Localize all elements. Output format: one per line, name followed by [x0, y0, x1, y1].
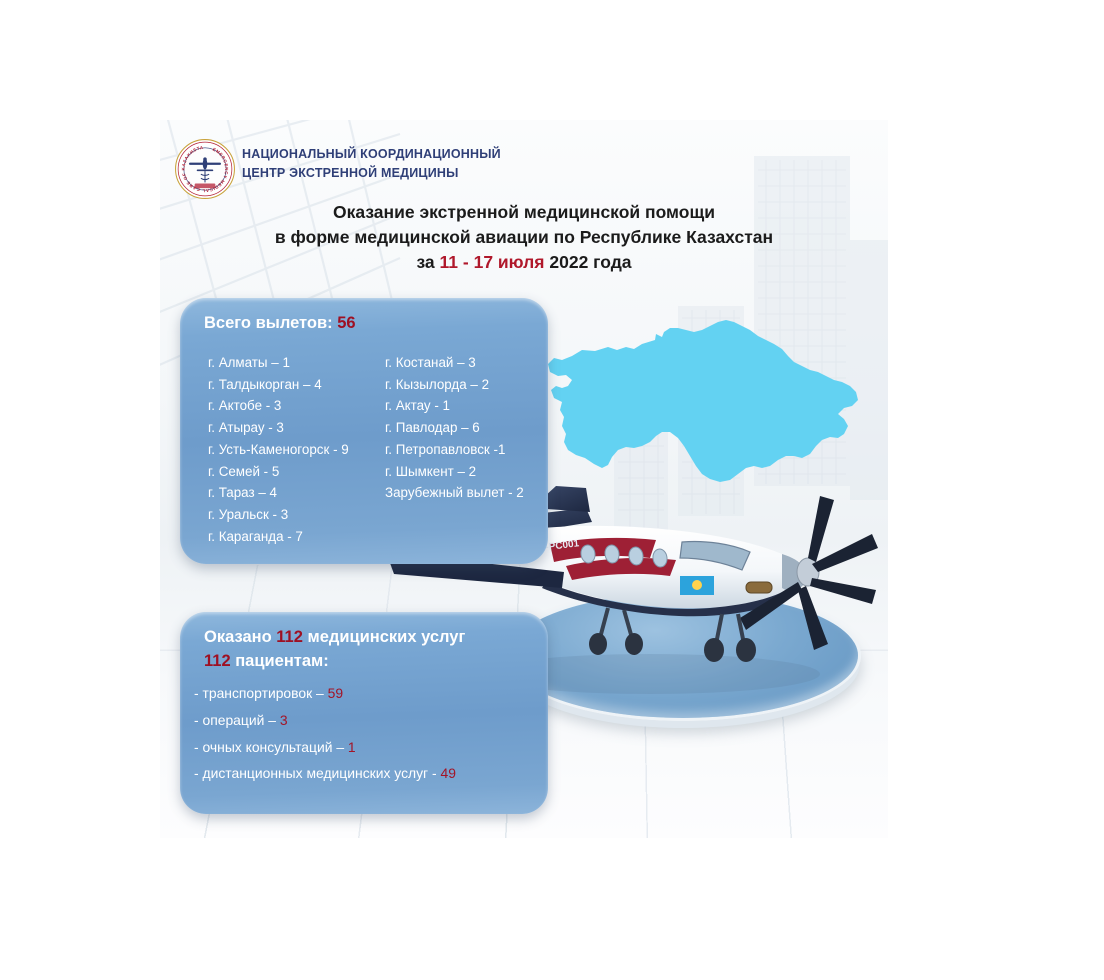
- title-line-2: в форме медицинской авиации по Республик…: [160, 225, 888, 250]
- service-value: 3: [280, 712, 288, 728]
- list-item: г. Семей - 5: [208, 461, 379, 483]
- page-title: Оказание экстренной медицинской помощи в…: [160, 200, 888, 275]
- list-item: г. Петропавловск -1: [385, 439, 538, 461]
- service-label: - очных консультаций –: [194, 739, 348, 755]
- list-item: - очных консультаций – 1: [194, 734, 540, 761]
- organization-logo-icon: EMERGENCY MEDICAL CARE OF KAZAKHSTAN: [174, 138, 236, 200]
- service-value: 1: [348, 739, 356, 755]
- infographic-panel: EMERGENCY MEDICAL CARE OF KAZAKHSTAN НАЦ…: [160, 120, 888, 838]
- list-item: - дистанционных медицинских услуг - 49: [194, 760, 540, 787]
- org-name-line2: ЦЕНТР ЭКСТРЕННОЙ МЕДИЦИНЫ: [242, 164, 501, 183]
- total-flights-label: Всего вылетов:: [204, 314, 333, 332]
- poster-stage: EMERGENCY MEDICAL CARE OF KAZAKHSTAN НАЦ…: [0, 0, 1104, 980]
- list-item: г. Актобе - 3: [208, 395, 379, 417]
- total-flights-value: 56: [337, 314, 355, 332]
- list-item: г. Караганда - 7: [208, 526, 379, 548]
- list-item: г. Кызылорда – 2: [385, 374, 538, 396]
- service-value: 49: [440, 765, 455, 781]
- list-item: г. Талдыкорган – 4: [208, 374, 379, 396]
- list-item: г. Атырау - 3: [208, 417, 379, 439]
- patients-count: 112: [204, 652, 231, 670]
- services-breakdown-list: - транспортировок – 59 - операций – 3 - …: [194, 680, 540, 787]
- services-count: 112: [276, 628, 303, 646]
- list-item: - операций – 3: [194, 707, 540, 734]
- list-item: г. Тараз – 4: [208, 482, 379, 504]
- flights-city-column-left: г. Алматы – 1 г. Талдыкорган – 4 г. Акто…: [208, 352, 379, 547]
- organization-name: НАЦИОНАЛЬНЫЙ КООРДИНАЦИОННЫЙ ЦЕНТР ЭКСТР…: [242, 145, 501, 184]
- list-item: г. Уральск - 3: [208, 504, 379, 526]
- title-period-suffix: 2022 года: [545, 252, 632, 272]
- services-heading-word3: пациентам:: [235, 652, 329, 670]
- title-line-3: за 11 - 17 июля 2022 года: [160, 250, 888, 275]
- title-period-dates: 11 - 17 июля: [440, 252, 545, 272]
- list-item: Зарубежный вылет - 2: [385, 482, 538, 504]
- services-heading: Оказано 112 медицинских услуг 112 пациен…: [204, 626, 532, 674]
- title-line-1: Оказание экстренной медицинской помощи: [160, 200, 888, 225]
- total-flights-heading: Всего вылетов: 56: [204, 312, 532, 336]
- org-name-line1: НАЦИОНАЛЬНЫЙ КООРДИНАЦИОННЫЙ: [242, 145, 501, 164]
- services-heading-word2: медицинских услуг: [308, 628, 466, 646]
- flights-city-column-right: г. Костанай – 3 г. Кызылорда – 2 г. Акта…: [385, 352, 538, 547]
- service-label: - операций –: [194, 712, 280, 728]
- list-item: г. Костанай – 3: [385, 352, 538, 374]
- list-item: г. Усть-Каменогорск - 9: [208, 439, 379, 461]
- services-heading-word1: Оказано: [204, 628, 272, 646]
- title-period-prefix: за: [416, 252, 439, 272]
- flights-city-columns: г. Алматы – 1 г. Талдыкорган – 4 г. Акто…: [208, 352, 538, 547]
- total-flights-card: Всего вылетов: 56 г. Алматы – 1 г. Талды…: [180, 298, 548, 564]
- services-rendered-card: Оказано 112 медицинских услуг 112 пациен…: [180, 612, 548, 814]
- list-item: г. Павлодар – 6: [385, 417, 538, 439]
- list-item: г. Алматы – 1: [208, 352, 379, 374]
- service-value: 59: [328, 685, 343, 701]
- service-label: - транспортировок –: [194, 685, 328, 701]
- service-label: - дистанционных медицинских услуг -: [194, 765, 440, 781]
- list-item: г. Шымкент – 2: [385, 461, 538, 483]
- list-item: - транспортировок – 59: [194, 680, 540, 707]
- list-item: г. Актау - 1: [385, 395, 538, 417]
